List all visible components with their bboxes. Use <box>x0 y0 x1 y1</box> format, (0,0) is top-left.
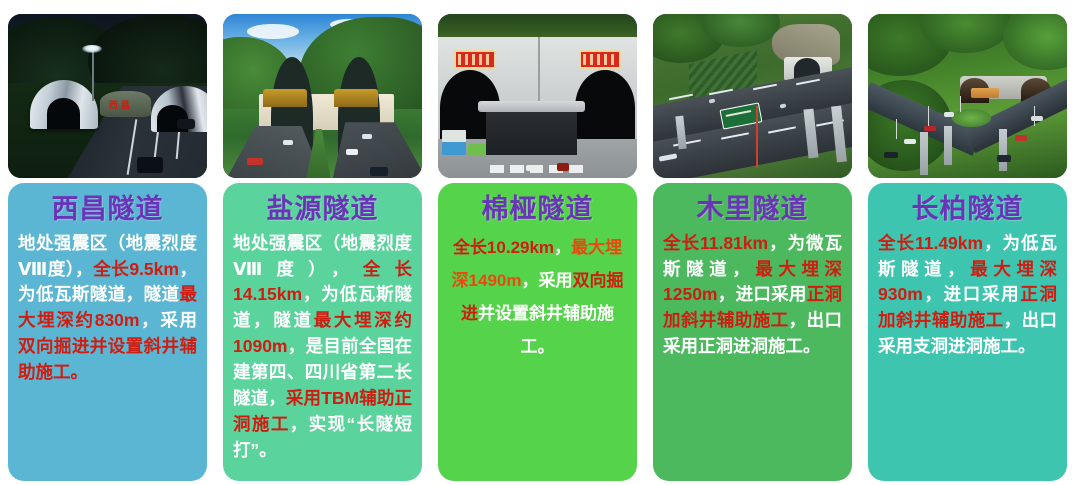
body-segment: 并设置斜井辅助施工。 <box>478 304 614 356</box>
body-segment: ，进口采用 <box>718 284 807 304</box>
body-segment: 全长11.81km <box>663 233 768 253</box>
tunnel-column-muli[interactable]: 木里隧道 全长11.81km，为微瓦斯隧道，最大埋深1250m，进口采用正洞加斜… <box>645 0 860 485</box>
card-title: 木里隧道 <box>697 195 809 225</box>
body-segment: ，进口采用 <box>923 284 1021 304</box>
tunnel-info-card-xichang: 西昌隧道 地处强震区（地震烈度Ⅷ度），全长9.5km，为低瓦斯隧道，隧道最大埋深… <box>8 183 207 481</box>
tunnel-info-card-changbai: 长柏隧道 全长11.49km，为低瓦斯隧道，最大埋深930m，进口采用正洞加斜井… <box>868 183 1067 481</box>
card-body: 全长11.49km，为低瓦斯隧道，最大埋深930m，进口采用正洞加斜井辅助施工，… <box>878 231 1057 360</box>
body-segment: 双向掘进并设置斜井辅助施工。 <box>18 336 197 382</box>
tunnel-cards-board: 西昌 西昌隧道 地处强震区（地震烈度Ⅷ度），全长9.5km，为低瓦斯隧道，隧道最… <box>0 0 1080 485</box>
card-body: 全长11.81km，为微瓦斯隧道，最大埋深1250m，进口采用正洞加斜井辅助施工… <box>663 231 842 360</box>
body-segment: 全长9.5km <box>93 259 179 279</box>
body-segment: ， <box>554 238 571 257</box>
tunnel-name-plaque-right <box>579 50 621 69</box>
card-body: 地处强震区（地震烈度Ⅷ度），全长14.15km，为低瓦斯隧道，隧道最大埋深约10… <box>233 231 412 464</box>
card-title: 棉桠隧道 <box>482 195 594 225</box>
tunnel-info-card-mianya: 棉桠隧道 全长10.29km，最大埋深1490m，采用双向掘进并设置斜井辅助施工… <box>438 183 637 481</box>
tunnel-column-xichang[interactable]: 西昌 西昌隧道 地处强震区（地震烈度Ⅷ度），全长9.5km，为低瓦斯隧道，隧道最… <box>0 0 215 485</box>
tunnel-info-card-yanyuan: 盐源隧道 地处强震区（地震烈度Ⅷ度），全长14.15km，为低瓦斯隧道，隧道最大… <box>223 183 422 481</box>
tunnel-column-yanyuan[interactable]: 盐源隧道 地处强震区（地震烈度Ⅷ度），全长14.15km，为低瓦斯隧道，隧道最大… <box>215 0 430 485</box>
card-body: 全长10.29km，最大埋深1490m，采用双向掘进并设置斜井辅助施工。 <box>448 231 627 364</box>
tunnel-info-card-muli: 木里隧道 全长11.81km，为微瓦斯隧道，最大埋深1250m，进口采用正洞加斜… <box>653 183 852 481</box>
aerial-twin-portal-viaduct-photo <box>868 14 1067 178</box>
body-segment: 全长11.49km <box>878 233 983 253</box>
mountain-twin-portals-photo <box>223 14 422 178</box>
body-segment: 全长10.29km <box>453 238 554 257</box>
card-title: 长柏隧道 <box>912 195 1024 225</box>
tunnel-column-changbai[interactable]: 长柏隧道 全长11.49km，为低瓦斯隧道，最大埋深930m，进口采用正洞加斜井… <box>860 0 1075 485</box>
body-segment: ，采用 <box>139 310 197 330</box>
night-tunnel-portals-photo: 西昌 <box>8 14 207 178</box>
aerial-viaduct-sign-photo <box>653 14 852 178</box>
card-body: 地处强震区（地震烈度Ⅷ度），全长9.5km，为低瓦斯隧道，隧道最大埋深约830m… <box>18 231 197 386</box>
card-title: 盐源隧道 <box>267 195 379 225</box>
rock-sign: 西昌 <box>100 91 152 117</box>
tunnel-name-plaque-left <box>454 50 496 69</box>
card-title: 西昌隧道 <box>52 195 164 225</box>
stone-portal-plaza-photo <box>438 14 637 178</box>
tunnel-column-mianya[interactable]: 棉桠隧道 全长10.29km，最大埋深1490m，采用双向掘进并设置斜井辅助施工… <box>430 0 645 485</box>
body-segment: ，采用 <box>521 271 572 290</box>
